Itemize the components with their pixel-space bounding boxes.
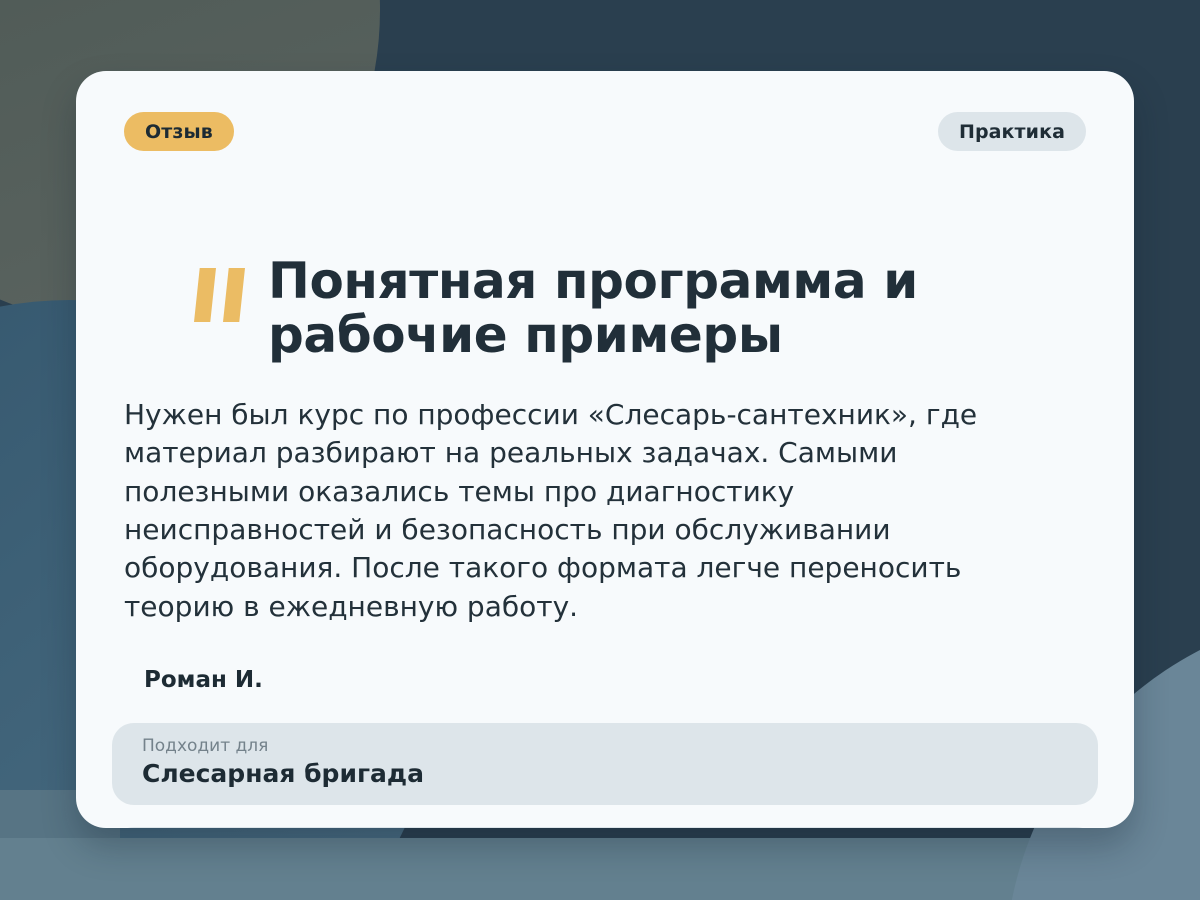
meta-chip-audience-value: Слесарная бригада (142, 759, 1068, 789)
review-card-stage: Отзыв Практика Понятная программа и рабо… (0, 0, 1200, 900)
headline-block: Понятная программа и рабочие примеры (124, 254, 1086, 362)
review-body-text: Нужен был курс по профессии «Слесарь-сан… (124, 396, 1044, 626)
badge-review-topic[interactable]: Практика (938, 112, 1086, 151)
quote-open-icon (194, 268, 250, 324)
meta-chip-audience-label: Подходит для (142, 736, 1068, 756)
meta-spacer (112, 630, 1098, 701)
meta-chip-profession[interactable]: Профессия Слесарь-сантехник (112, 827, 1098, 828)
badge-review-kind[interactable]: Отзыв (124, 112, 234, 151)
badge-row: Отзыв Практика (124, 112, 1086, 151)
review-meta-list: Подходит для Слесарная бригада Профессия… (112, 630, 1098, 828)
review-card-inner: Отзыв Практика Понятная программа и рабо… (76, 71, 1134, 828)
meta-chip-audience[interactable]: Подходит для Слесарная бригада (112, 723, 1098, 805)
review-headline: Понятная программа и рабочие примеры (250, 254, 1086, 362)
review-card: Отзыв Практика Понятная программа и рабо… (76, 71, 1134, 828)
